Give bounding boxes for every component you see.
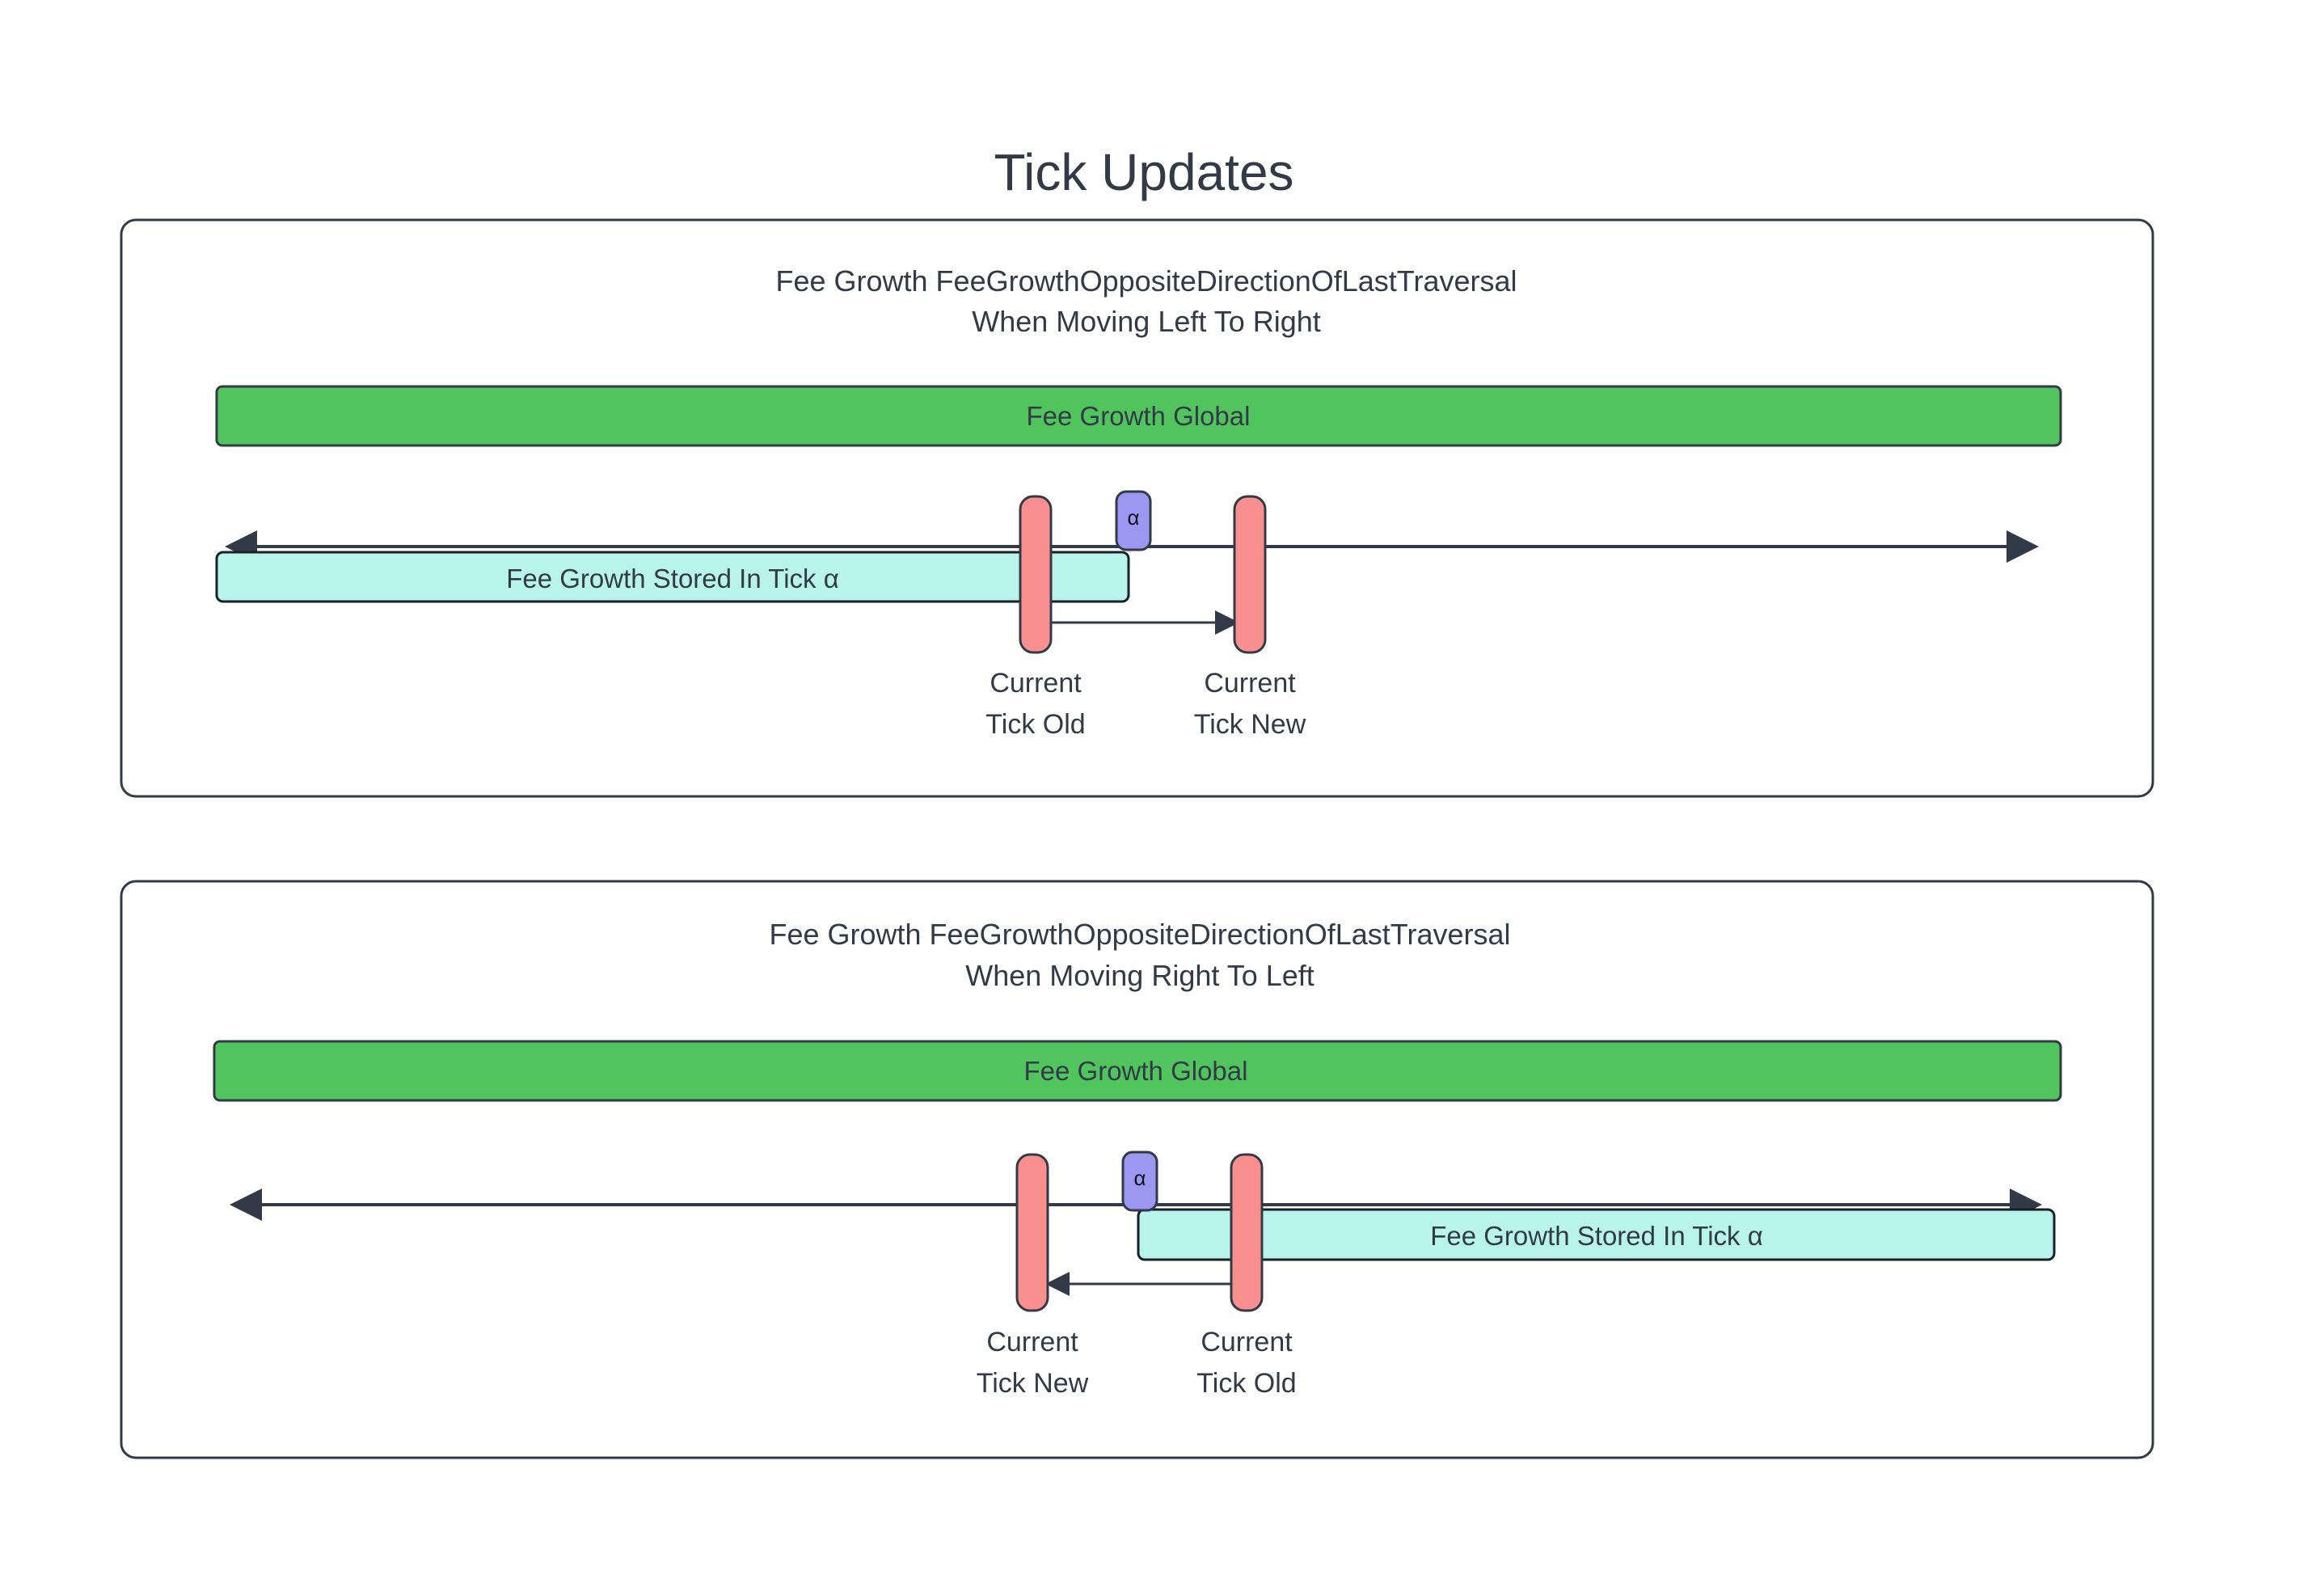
panel-right-to-left: Fee Growth FeeGrowthOppositeDirectionOfL… <box>121 881 2153 1458</box>
panel-left-to-right: Fee Growth FeeGrowthOppositeDirectionOfL… <box>121 220 2153 796</box>
panel-subtitle-line-1: Fee Growth FeeGrowthOppositeDirectionOfL… <box>769 918 1510 951</box>
fee-growth-stored-bar-label: Fee Growth Stored In Tick α <box>1430 1221 1763 1251</box>
fee-growth-stored-bar: Fee Growth Stored In Tick α <box>217 552 1129 602</box>
alpha-badge: α <box>1123 1152 1157 1210</box>
alpha-badge-label: α <box>1133 1166 1146 1190</box>
tick-marker-old-label-line-2: Tick Old <box>1196 1368 1296 1399</box>
fee-growth-stored-bar: Fee Growth Stored In Tick α <box>1138 1210 2054 1260</box>
tick-marker-old-label-line-2: Tick Old <box>985 709 1085 740</box>
fee-growth-global-bar-label: Fee Growth Global <box>1024 1056 1248 1086</box>
tick-marker-old-rect <box>1020 496 1051 652</box>
diagram-canvas: Tick Updates Fee Growth FeeGrowthOpposit… <box>0 0 2304 1596</box>
fee-growth-global-bar: Fee Growth Global <box>217 386 2061 445</box>
tick-marker-old-rect <box>1231 1155 1262 1311</box>
fee-growth-global-bar: Fee Growth Global <box>214 1041 2061 1100</box>
tick-marker-new-rect <box>1234 496 1265 652</box>
tick-marker-new-rect <box>1017 1155 1048 1311</box>
tick-marker-old-label-line-1: Current <box>1201 1327 1293 1357</box>
tick-updates-diagram: Tick Updates Fee Growth FeeGrowthOpposit… <box>0 0 2304 1596</box>
tick-marker-old-label-line-1: Current <box>990 668 1082 699</box>
alpha-badge: α <box>1116 492 1150 550</box>
tick-marker-new-label-line-2: Tick New <box>977 1368 1089 1399</box>
panel-subtitle-line-2: When Moving Left To Right <box>972 305 1321 338</box>
panel-subtitle-line-2: When Moving Right To Left <box>965 959 1314 992</box>
tick-marker-new-label-line-1: Current <box>986 1327 1078 1357</box>
tick-marker-new-label-line-2: Tick New <box>1194 709 1306 740</box>
page-title: Tick Updates <box>994 143 1293 201</box>
alpha-badge-label: α <box>1127 505 1139 530</box>
fee-growth-global-bar-label: Fee Growth Global <box>1027 401 1251 431</box>
fee-growth-stored-bar-label: Fee Growth Stored In Tick α <box>506 564 839 593</box>
tick-marker-new-label-line-1: Current <box>1204 668 1296 699</box>
panel-subtitle-line-1: Fee Growth FeeGrowthOppositeDirectionOfL… <box>775 264 1517 298</box>
